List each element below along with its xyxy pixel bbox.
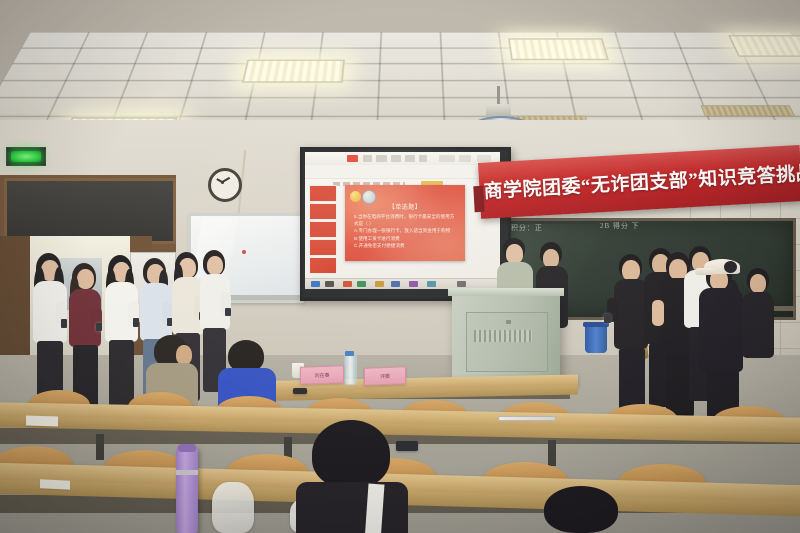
ribbon-tab-file: [347, 155, 358, 162]
ceiling-tile: [685, 63, 757, 81]
classroom-photo: 2A 积分：正 2B 得分 下 【单选题】: [0, 0, 800, 533]
ceiling-tile: [73, 47, 143, 64]
ceiling-tile: [570, 97, 642, 117]
ribbon-tab-animations: [419, 155, 427, 162]
bottle-cap: [345, 351, 354, 356]
ribbon-tab-transitions: [405, 155, 415, 162]
ceiling-tile: [128, 63, 198, 81]
ceiling-tile: [81, 32, 149, 48]
slide-thumbnail: [309, 203, 337, 220]
desk-leg: [96, 434, 104, 460]
ceiling-tile: [619, 47, 687, 64]
slide-line: 5.当你在电商平台消费时，银行卡最安全的使用方式是（ ）: [354, 213, 458, 227]
ceiling-tile: [692, 80, 766, 99]
whiteboard-mark: [242, 250, 246, 254]
slide-line: B.使用工资卡进行消费: [354, 235, 458, 242]
paper-slip: [26, 415, 58, 426]
taskbar-icon[interactable]: [375, 281, 384, 287]
clock-center: [221, 181, 224, 184]
ribbon-tab-view: [459, 155, 471, 162]
projection-screen: 【单选题】 5.当你在电商平台消费时，银行卡最安全的使用方式是（ ） A.专门办…: [305, 152, 500, 289]
wall-clock: [208, 168, 242, 202]
ceiling-tile: [12, 47, 83, 64]
ceiling-tile: [179, 97, 251, 117]
ceiling-tile: [629, 80, 701, 99]
taskbar-icon[interactable]: [325, 281, 334, 287]
slide-emblem-gold: [350, 191, 361, 202]
ceiling-tile: [380, 32, 442, 48]
slide-line: A.专门办理一张银行卡，放入适当资金用于购物: [354, 227, 458, 234]
ceiling-tile: [439, 32, 501, 48]
ceiling-tile: [65, 63, 137, 81]
smartphone[interactable]: [396, 441, 418, 451]
slide-question-type: 【单选题】: [345, 202, 465, 211]
ceiling-tile: [260, 32, 324, 48]
ceiling-tile: [379, 47, 442, 64]
ribbon-tab-home: [363, 155, 372, 162]
ceiling-tile: [134, 47, 202, 64]
ceiling-tile: [2, 63, 75, 81]
ribbon-tab-design: [391, 155, 401, 162]
ceiling-tile: [377, 97, 445, 117]
plastic-bag: [212, 482, 254, 533]
thermos-flask: [176, 447, 198, 533]
door-upper-panel: [4, 178, 176, 244]
ceiling-tile: [624, 63, 694, 81]
ceiling-vent: [701, 105, 796, 116]
ceiling-tile: [311, 97, 380, 117]
desk-leg: [548, 440, 556, 466]
taskbar-icon[interactable]: [391, 281, 400, 287]
ribbon-tab-insert: [376, 155, 387, 162]
slide-thumbnail: [309, 257, 337, 274]
banner-fold: [473, 186, 484, 212]
ceiling-tile: [563, 63, 632, 81]
taskbar-icon[interactable]: [357, 281, 366, 287]
trash-bin: [585, 325, 607, 353]
lectern-lock: [506, 320, 511, 324]
ceiling-tile: [56, 80, 130, 99]
ceiling-tile: [140, 32, 207, 48]
water-bottle: [344, 355, 357, 385]
ceiling-tile: [121, 80, 193, 99]
ceiling-tile: [200, 32, 265, 48]
name-card: 评委: [364, 366, 406, 385]
ceiling-tile: [48, 97, 124, 117]
ceiling-tile: [506, 97, 576, 117]
slide-body: 5.当你在电商平台消费时，银行卡最安全的使用方式是（ ） A.专门办理一张银行卡…: [354, 213, 458, 249]
ceiling-tile: [615, 32, 682, 48]
ceiling-tile: [21, 32, 91, 48]
taskbar-icon[interactable]: [311, 281, 320, 287]
thermos-band: [176, 470, 198, 475]
current-slide: 【单选题】 5.当你在电商平台消费时，银行卡最安全的使用方式是（ ） A.专门办…: [345, 185, 465, 261]
smartphone[interactable]: [293, 388, 307, 394]
ceiling-tile: [567, 80, 637, 99]
powerpoint-subbar: [305, 165, 500, 179]
exit-sign-glow: [11, 151, 41, 162]
ribbon-tab-help: [477, 155, 491, 162]
slide-thumbnail: [309, 221, 337, 238]
ceiling-light-panel: [508, 38, 609, 60]
ribbon-tab-review: [439, 155, 455, 162]
name-card: 刘在春: [300, 365, 344, 385]
slide-line: C.开通免密支付便捷消费: [354, 242, 458, 249]
ceiling-light-panel: [242, 60, 345, 84]
ceiling-tile: [245, 97, 315, 117]
pen[interactable]: [498, 416, 556, 421]
ceiling-tile: [441, 63, 506, 81]
taskbar-icon[interactable]: [427, 281, 436, 287]
powerpoint-ribbon: [305, 152, 500, 166]
taskbar-icon[interactable]: [457, 281, 466, 287]
slide-thumbnail: [309, 185, 337, 202]
paper-slip: [40, 479, 70, 490]
thermos-cap: [178, 444, 196, 452]
taskbar-icon[interactable]: [343, 281, 352, 287]
exit-sign-icon: [6, 147, 46, 166]
slide-thumbnail: [309, 239, 337, 256]
blackboard-score-right: 2B 得分 下: [600, 221, 640, 231]
ceiling-tile: [113, 97, 187, 117]
ceiling-light-panel: [728, 35, 800, 57]
lectern-vent: [474, 330, 532, 342]
ceiling-tile: [746, 63, 800, 81]
ceiling-tile: [635, 97, 709, 117]
ceiling-tile: [504, 80, 573, 99]
ceiling-tile: [754, 80, 800, 99]
ceiling-tile: [379, 63, 444, 81]
ceiling-tile: [320, 32, 382, 48]
ceiling-tile: [502, 63, 569, 81]
ceiling-tile: [440, 47, 504, 64]
taskbar-icon[interactable]: [409, 281, 418, 287]
lectern-top: [448, 288, 564, 296]
ceiling-tile: [378, 80, 444, 99]
